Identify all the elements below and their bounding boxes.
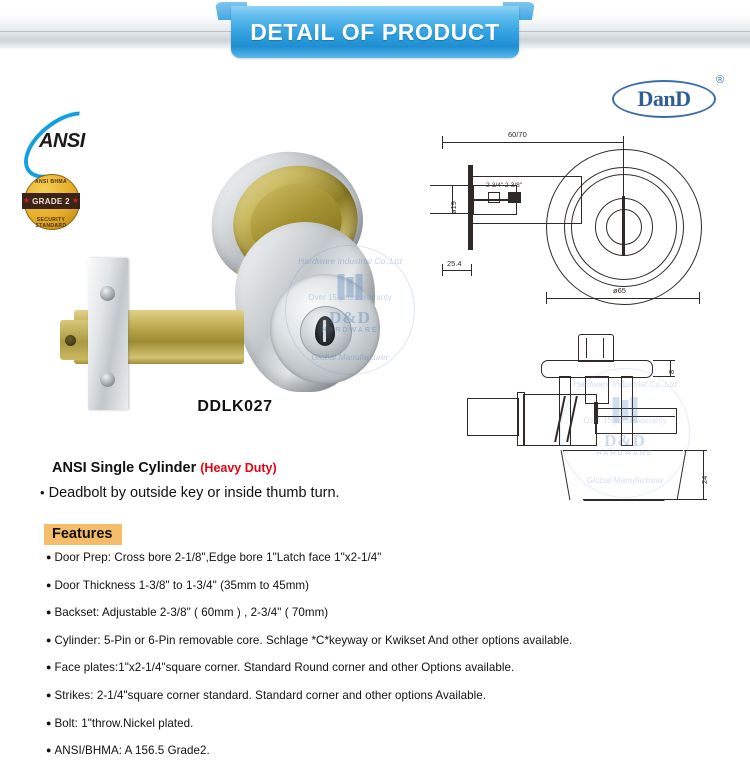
backset-mark-box-1 xyxy=(488,192,500,203)
feature-item: ●Door Prep: Cross bore 2-1/8",Edge bore … xyxy=(46,552,736,564)
product-detail-page: DETAIL OF PRODUCT DanD ® ANSI ANSI BHMA … xyxy=(0,0,750,744)
registered-trademark-icon: ® xyxy=(716,74,724,86)
feature-bullet-icon: ● xyxy=(46,552,52,562)
bolt-mechanism-line xyxy=(595,416,675,417)
thumbturn-grip-1 xyxy=(586,338,587,358)
escutcheon-base-top xyxy=(563,450,683,451)
product-model: DDLK027 xyxy=(0,398,470,416)
brand-logo-oval: DanD xyxy=(612,80,716,118)
keyway-slot-line xyxy=(622,196,625,256)
feature-bullet-icon: ● xyxy=(46,690,52,700)
dim-ext-turn-bottom xyxy=(663,499,707,500)
product-lead-line: • Deadbolt by outside key or inside thum… xyxy=(40,485,340,501)
latch-bolt-hole-shape xyxy=(65,335,76,346)
feature-item: ●Cylinder: 5-Pin or 6-Pin removable core… xyxy=(46,635,736,647)
features-list: ●Door Prep: Cross bore 2-1/8",Edge bore … xyxy=(46,552,736,773)
keyway-slot-shape xyxy=(323,320,326,342)
feature-text: Bolt: 1"throw.Nickel plated. xyxy=(55,717,194,730)
faceplate-screw-top xyxy=(100,286,115,301)
dim-line-offset xyxy=(442,270,472,271)
feature-text: Backset: Adjustable 2-3/8" ( 60mm ) , 2-… xyxy=(55,606,329,619)
feature-item: ●Door Thickness 1-3/8" to 1-3/4" (35mm t… xyxy=(46,580,736,592)
feature-text: ANSI/BHMA: A 156.5 Grade2. xyxy=(55,744,210,757)
technical-drawing-front-view: 60/70 ø19 2-3/4" 2-3/8" 25.4 ø65 xyxy=(430,120,740,310)
dim-label-width: 60/70 xyxy=(508,130,527,139)
feature-text: Face plates:1"x2-1/4"square corner. Stan… xyxy=(55,661,515,674)
feature-text: Cylinder: 5-Pin or 6-Pin removable core.… xyxy=(55,634,573,647)
feature-text: Door Prep: Cross bore 2-1/8",Edge bore 1… xyxy=(55,551,382,564)
dim-tick-rose-right xyxy=(699,292,700,304)
feature-bullet-icon: ● xyxy=(46,718,52,728)
thumbturn-grip-2 xyxy=(603,338,604,358)
faceplate-shape xyxy=(88,258,128,410)
feature-bullet-icon: ● xyxy=(46,662,52,672)
faceplate-screw-bottom xyxy=(100,372,115,387)
backset-mark-box-2 xyxy=(508,192,521,203)
thumbturn-knob xyxy=(578,334,614,362)
dim-label-rose-dia: ø65 xyxy=(613,286,626,295)
grade-star-left-icon: ★ xyxy=(23,197,30,205)
dim-label-backset: 2-3/4" 2-3/8" xyxy=(486,182,522,189)
ribbon-body: DETAIL OF PRODUCT xyxy=(231,6,519,58)
feature-text: Door Thickness 1-3/8" to 1-3/4" (35mm to… xyxy=(55,579,310,592)
dim-line-rose-dia xyxy=(546,298,700,299)
dim-line-width xyxy=(442,142,624,143)
feature-bullet-icon: ● xyxy=(46,607,52,617)
feature-item: ●Face plates:1"x2-1/4"square corner. Sta… xyxy=(46,662,736,674)
latch-bolt-side xyxy=(467,398,519,436)
header-ribbon: DETAIL OF PRODUCT xyxy=(215,0,535,64)
feature-bullet-icon: ● xyxy=(46,635,52,645)
brand-logo-text: DanD xyxy=(637,86,690,112)
dim-label-turn-height: 24 xyxy=(700,476,709,484)
feature-bullet-icon: ● xyxy=(46,745,52,755)
product-subtitle-text: ANSI Single Cylinder xyxy=(52,460,196,476)
feature-item: ●ANSI/BHMA: A 156.5 Grade2. xyxy=(46,745,736,757)
lead-text: Deadbolt by outside key or inside thumb … xyxy=(49,485,340,501)
heavy-duty-badge: (Heavy Duty) xyxy=(200,461,276,475)
page-header: DETAIL OF PRODUCT xyxy=(0,0,750,64)
bolt-mechanism xyxy=(595,408,677,434)
brand-logo: DanD ® xyxy=(612,74,732,118)
features-heading: Features xyxy=(44,524,122,545)
lead-bullet-icon: • xyxy=(40,485,45,500)
dim-tick-left xyxy=(442,136,443,149)
dim-label-latch-dia: ø19 xyxy=(449,201,458,214)
dim-label-plate-thickness: 8 xyxy=(667,370,676,374)
escutcheon-base-bottom xyxy=(583,499,663,500)
feature-bullet-icon: ● xyxy=(46,580,52,590)
product-subtitle: ANSI Single Cylinder (Heavy Duty) xyxy=(52,460,277,476)
dim-label-offset: 25.4 xyxy=(447,259,462,268)
feature-item: ●Bolt: 1"throw.Nickel plated. xyxy=(46,718,736,730)
banner-title: DETAIL OF PRODUCT xyxy=(250,19,500,46)
escutcheon-base-side xyxy=(563,450,685,501)
technical-drawing-side-view: 8 24 xyxy=(455,330,745,520)
feature-text: Strikes: 2-1/4"square corner standard. S… xyxy=(55,689,486,702)
dim-tick-rose-left xyxy=(546,292,547,304)
product-photo xyxy=(60,148,410,400)
dim-ext-plate-bottom xyxy=(653,376,675,377)
feature-item: ●Backset: Adjustable 2-3/8" ( 60mm ) , 2… xyxy=(46,607,736,619)
dim-tick-offset-right xyxy=(471,264,472,276)
feature-item: ●Strikes: 2-1/4"square corner standard. … xyxy=(46,690,736,702)
dim-tick-offset-left xyxy=(442,264,443,276)
dim-ext-plate-top xyxy=(653,360,675,361)
dim-ext-turn-top xyxy=(685,450,707,451)
